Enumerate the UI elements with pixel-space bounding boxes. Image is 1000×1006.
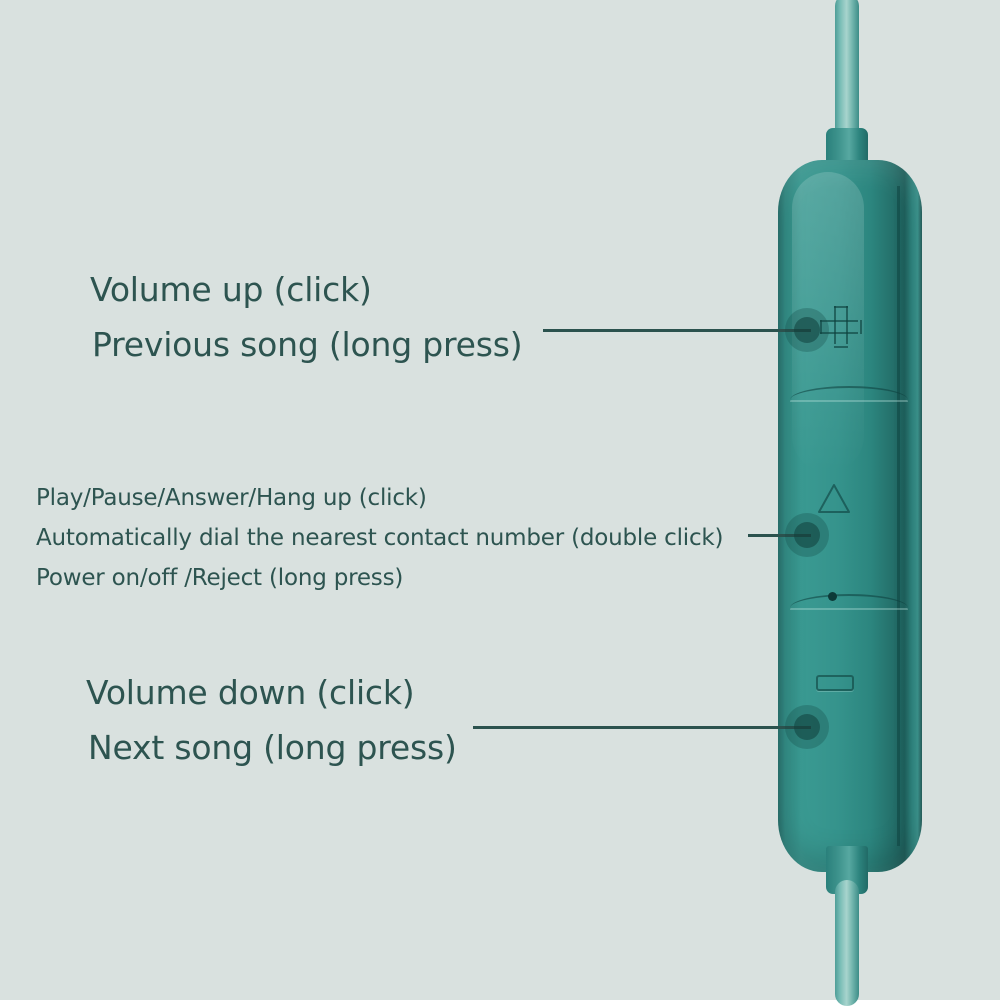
annotation-line: Volume down (click) <box>86 665 457 720</box>
module-groove-bottom <box>790 594 908 608</box>
play-triangle-icon <box>816 482 852 515</box>
earphone-cable-bottom <box>835 880 859 1006</box>
leader-line-volume-up <box>543 329 811 332</box>
product-annotation-diagram: Volume up (click) Previous song (long pr… <box>0 0 1000 1000</box>
annotation-multifunction: Play/Pause/Answer/Hang up (click) Automa… <box>36 478 723 598</box>
annotation-volume-down: Volume down (click) Next song (long pres… <box>86 665 457 775</box>
leader-line-volume-down <box>473 726 811 729</box>
annotation-line: Next song (long press) <box>88 720 457 775</box>
earphone-cable-top <box>835 0 859 144</box>
annotation-line: Power on/off /Reject (long press) <box>36 558 723 598</box>
annotation-line: Automatically dial the nearest contact n… <box>36 518 723 558</box>
multifunction-button[interactable] <box>785 513 829 557</box>
annotation-line: Previous song (long press) <box>92 317 522 372</box>
annotation-line: Play/Pause/Answer/Hang up (click) <box>36 478 723 518</box>
module-edge-seam <box>897 186 900 846</box>
annotation-volume-up: Volume up (click) Previous song (long pr… <box>90 262 522 372</box>
microphone-pinhole-icon <box>828 592 837 601</box>
minus-icon <box>816 675 854 691</box>
volume-down-button[interactable] <box>785 705 829 749</box>
volume-up-button[interactable] <box>785 308 829 352</box>
annotation-line: Volume up (click) <box>90 262 522 317</box>
